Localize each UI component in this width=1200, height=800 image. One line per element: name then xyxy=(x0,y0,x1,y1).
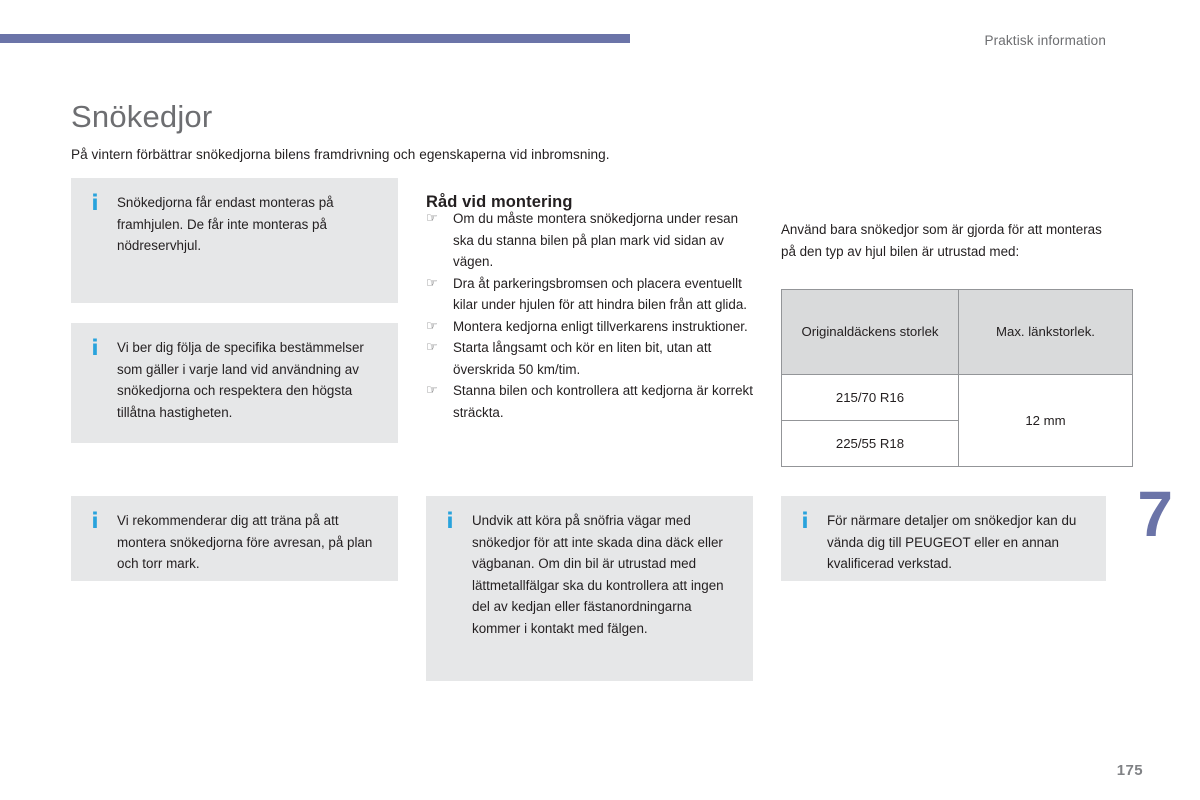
pointing-hand-icon: ☞ xyxy=(426,208,444,230)
list-item-label: Stanna bilen och kontrollera att kedjorn… xyxy=(453,380,756,423)
list-item-label: Montera kedjorna enligt tillverkarens in… xyxy=(453,316,756,338)
page-number: 175 xyxy=(1117,762,1143,779)
page-subtitle: På vintern förbättrar snökedjorna bilens… xyxy=(71,147,610,162)
advice-list: ☞ Om du måste montera snökedjorna under … xyxy=(426,208,756,423)
pointing-hand-icon: ☞ xyxy=(426,380,444,402)
list-item: ☞ Om du måste montera snökedjorna under … xyxy=(426,208,756,273)
chapter-number: 7 xyxy=(1137,482,1172,546)
page-title: Snökedjor xyxy=(71,99,212,135)
table-cell-link-size: 12 mm xyxy=(959,375,1133,467)
info-box-dealer: i För närmare detaljer om snökedjor kan … xyxy=(781,496,1106,581)
info-icon: i xyxy=(87,192,103,214)
table-row: 215/70 R16 12 mm xyxy=(782,375,1133,421)
tyre-intro-text: Använd bara snökedjor som är gjorda för … xyxy=(781,219,1106,262)
info-icon: i xyxy=(87,510,103,532)
tyre-size-table: Originaldäckens storlek Max. länkstorlek… xyxy=(781,289,1133,467)
table-cell-tyre-size: 225/55 R18 xyxy=(782,421,959,467)
info-box-country-rules-text: Vi ber dig följa de specifika bestämmels… xyxy=(117,337,382,423)
list-item: ☞ Montera kedjorna enligt tillverkarens … xyxy=(426,316,756,338)
table-header-link-size: Max. länkstorlek. xyxy=(959,290,1133,375)
info-box-practice-text: Vi rekommenderar dig att träna på att mo… xyxy=(117,510,382,575)
pointing-hand-icon: ☞ xyxy=(426,337,444,359)
pointing-hand-icon: ☞ xyxy=(426,316,444,338)
list-item: ☞ Dra åt parkeringsbromsen och placera e… xyxy=(426,273,756,316)
info-icon: i xyxy=(442,510,458,532)
list-item: ☞ Starta långsamt och kör en liten bit, … xyxy=(426,337,756,380)
info-box-dealer-text: För närmare detaljer om snökedjor kan du… xyxy=(827,510,1090,575)
list-item-label: Dra åt parkeringsbromsen och placera eve… xyxy=(453,273,756,316)
list-item: ☞ Stanna bilen och kontrollera att kedjo… xyxy=(426,380,756,423)
list-item-label: Om du måste montera snökedjorna under re… xyxy=(453,208,756,273)
pointing-hand-icon: ☞ xyxy=(426,273,444,295)
table-header-row: Originaldäckens storlek Max. länkstorlek… xyxy=(782,290,1133,375)
info-box-practice: i Vi rekommenderar dig att träna på att … xyxy=(71,496,398,581)
info-box-front-wheels-text: Snökedjorna får endast monteras på framh… xyxy=(117,192,382,257)
info-box-snow-free-roads: i Undvik att köra på snöfria vägar med s… xyxy=(426,496,753,681)
info-icon: i xyxy=(797,510,813,532)
table-header-tyre-size: Originaldäckens storlek xyxy=(782,290,959,375)
header-accent-rule xyxy=(0,34,630,43)
header-section-title: Praktisk information xyxy=(984,33,1106,48)
info-box-snow-free-roads-text: Undvik att köra på snöfria vägar med snö… xyxy=(472,510,737,639)
info-box-country-rules: i Vi ber dig följa de specifika bestämme… xyxy=(71,323,398,443)
list-item-label: Starta långsamt och kör en liten bit, ut… xyxy=(453,337,756,380)
info-box-front-wheels: i Snökedjorna får endast monteras på fra… xyxy=(71,178,398,303)
info-icon: i xyxy=(87,337,103,359)
table-cell-tyre-size: 215/70 R16 xyxy=(782,375,959,421)
